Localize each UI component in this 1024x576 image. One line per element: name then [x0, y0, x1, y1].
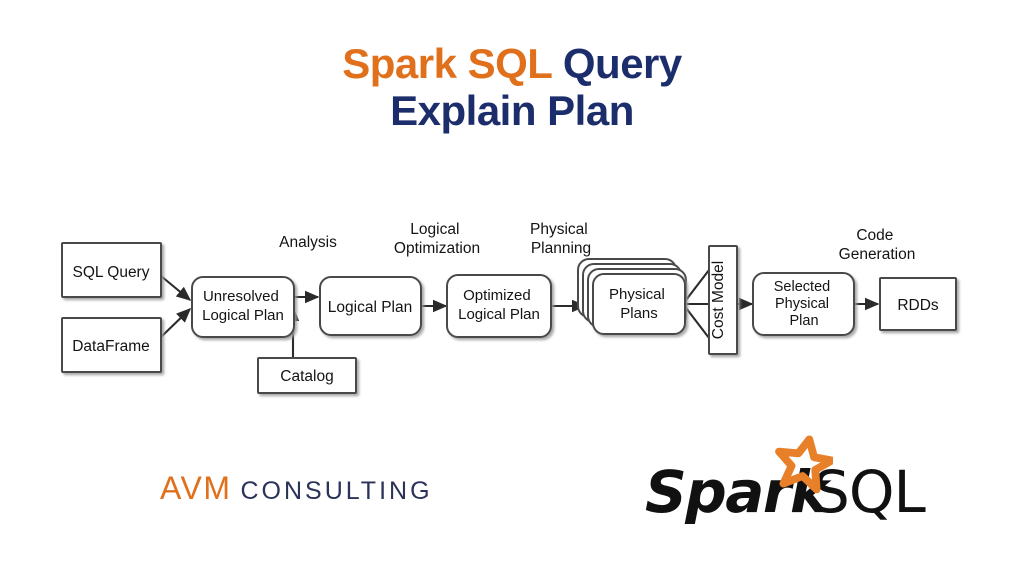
node-dataframe[interactable]: DataFrame [62, 318, 161, 372]
stage-label-logical-optimization: Logical Optimization [394, 221, 480, 257]
spark-star-icon [771, 435, 833, 495]
node-physical-plans[interactable]: Physical Plans [578, 259, 686, 334]
stage-label-physical-planning: Physical Planning [530, 221, 592, 257]
spark-sql-logo: Spark SQL [645, 438, 925, 528]
node-rdds-label: RDDs [897, 297, 939, 314]
avm-logo-word: CONSULTING [240, 477, 432, 505]
node-sql-query[interactable]: SQL Query [62, 243, 161, 297]
avm-logo-mark: AVM [160, 470, 231, 506]
node-optimized-logical-plan[interactable]: Optimized Logical Plan [447, 275, 551, 337]
node-dataframe-label: DataFrame [72, 338, 150, 355]
node-catalog-label: Catalog [280, 368, 333, 385]
stage-label-code-generation: Code Generation [839, 227, 916, 263]
node-unresolved-logical-plan[interactable]: Unresolved Logical Plan [192, 277, 294, 337]
node-rdds[interactable]: RDDs [880, 278, 956, 330]
physical-plans-stack-front [593, 274, 685, 334]
node-logical-plan[interactable]: Logical Plan [320, 277, 421, 335]
node-selected-physical-plan[interactable]: Selected Physical Plan [753, 273, 854, 335]
node-cost-model-label: Cost Model [710, 261, 727, 339]
node-sql-query-label: SQL Query [73, 264, 150, 281]
node-logical-plan-label: Logical Plan [328, 299, 412, 316]
stage-label-analysis: Analysis [279, 234, 337, 251]
avm-consulting-logo: AVMCONSULTING [160, 470, 433, 507]
edge-sql-query-to-unresolved [161, 276, 190, 300]
edge-dataframe-to-unresolved [161, 309, 190, 337]
node-catalog[interactable]: Catalog [258, 358, 356, 393]
node-cost-model[interactable]: Cost Model [709, 246, 737, 354]
